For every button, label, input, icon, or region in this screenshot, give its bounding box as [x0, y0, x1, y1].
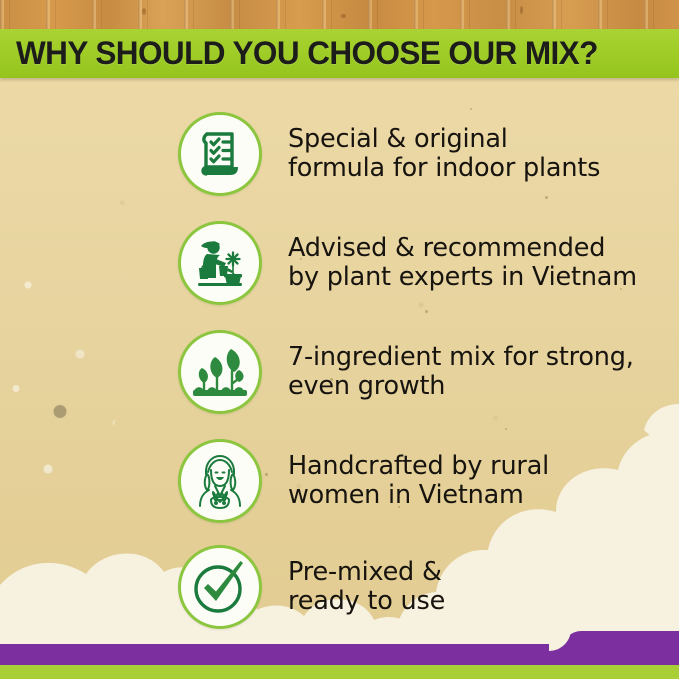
feature-label: Special & original formula for indoor pl…	[288, 125, 600, 183]
infographic-panel: Special & original formula for indoor pl…	[0, 0, 679, 679]
wood-knot	[520, 6, 523, 14]
checklist-scroll-icon	[178, 112, 262, 196]
feature-label: Advised & recommended by plant experts i…	[288, 234, 637, 292]
feature-row-1[interactable]: Special & original formula for indoor pl…	[178, 112, 600, 196]
footer-green-band	[0, 665, 679, 679]
gardener-watering-plant-icon	[178, 221, 262, 305]
feature-label: Pre-mixed & ready to use	[288, 558, 445, 616]
feature-row-4[interactable]: Handcrafted by rural women in Vietnam	[178, 439, 549, 523]
feature-row-2[interactable]: Advised & recommended by plant experts i…	[178, 221, 637, 305]
sprouting-leaves-icon	[178, 330, 262, 414]
feature-row-3[interactable]: 7-ingredient mix for strong, even growth	[178, 330, 634, 414]
wood-knot	[341, 14, 346, 18]
feature-label: Handcrafted by rural women in Vietnam	[288, 452, 549, 510]
soil-mix-photo	[0, 78, 200, 653]
feature-label: 7-ingredient mix for strong, even growth	[288, 343, 634, 401]
feature-row-5[interactable]: Pre-mixed & ready to use	[178, 545, 445, 629]
header-banner: WHY SHOULD YOU CHOOSE OUR MIX?	[0, 29, 679, 78]
wood-knot	[142, 8, 146, 15]
footer-purple-step	[563, 631, 679, 665]
rural-woman-portrait-icon	[178, 439, 262, 523]
page-title: WHY SHOULD YOU CHOOSE OUR MIX?	[16, 35, 598, 72]
circle-checkmark-icon	[178, 545, 262, 629]
